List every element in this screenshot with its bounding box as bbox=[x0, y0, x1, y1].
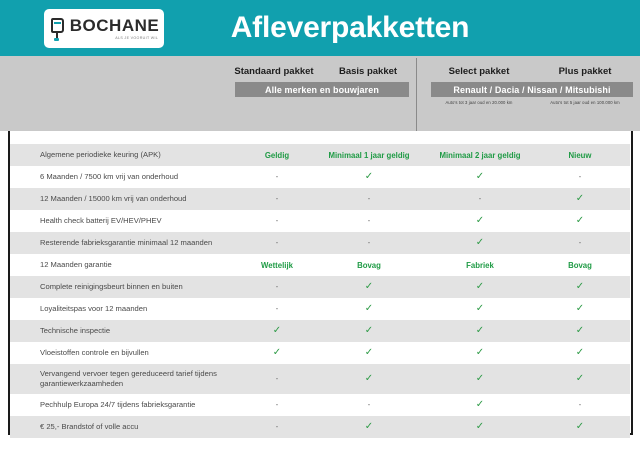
group-bar-all-brands: Alle merken en bouwjaren bbox=[235, 82, 409, 97]
cell-basis: ✓ bbox=[323, 342, 415, 364]
cell-select: - bbox=[430, 188, 530, 210]
row-label: 6 Maanden / 7500 km vrij van onderhoud bbox=[10, 172, 231, 182]
table-row: 12 Maanden / 15000 km vrij van onderhoud… bbox=[10, 188, 630, 210]
dash-icon: - bbox=[368, 239, 371, 247]
cell-plus: ✓ bbox=[530, 416, 630, 438]
cell-select: ✓ bbox=[430, 364, 530, 394]
table-body: Algemene periodieke keuring (APK)GeldigM… bbox=[0, 131, 640, 453]
row-label: Vervangend vervoer tegen gereduceerd tar… bbox=[10, 369, 231, 390]
cell-basis: ✓ bbox=[323, 320, 415, 342]
table-row: 6 Maanden / 7500 km vrij van onderhoud-✓… bbox=[10, 166, 630, 188]
check-icon: ✓ bbox=[365, 348, 373, 358]
cell-select: ✓ bbox=[430, 276, 530, 298]
row-label: € 25,- Brandstof of volle accu bbox=[10, 422, 231, 432]
cell-plus: - bbox=[530, 166, 630, 188]
cell-plus: - bbox=[530, 394, 630, 416]
group-bar-brands-list: Renault / Dacia / Nissan / Mitsubishi bbox=[431, 82, 633, 97]
cell-basis: ✓ bbox=[323, 364, 415, 394]
package-column-headers: Standaard pakket Basis pakket Select pak… bbox=[0, 66, 640, 82]
dash-icon: - bbox=[276, 239, 279, 247]
row-label: Health check batterij EV/HEV/PHEV bbox=[10, 216, 231, 226]
check-icon: ✓ bbox=[365, 172, 373, 182]
check-icon: ✓ bbox=[476, 282, 484, 292]
check-icon: ✓ bbox=[476, 238, 484, 248]
cell-select: ✓ bbox=[430, 320, 530, 342]
cell-standaard: - bbox=[231, 364, 323, 394]
dash-icon: - bbox=[276, 283, 279, 291]
cell-standaard: ✓ bbox=[231, 342, 323, 364]
cell-standaard: - bbox=[231, 394, 323, 416]
check-icon: ✓ bbox=[365, 374, 373, 384]
table-row: Vervangend vervoer tegen gereduceerd tar… bbox=[10, 364, 630, 394]
row-label: Pechhulp Europa 24/7 tijdens fabrieksgar… bbox=[10, 400, 231, 410]
cell-basis: - bbox=[323, 232, 415, 254]
cell-standaard: - bbox=[231, 276, 323, 298]
check-icon: ✓ bbox=[576, 304, 584, 314]
cell-plus: ✓ bbox=[530, 342, 630, 364]
dash-icon: - bbox=[368, 217, 371, 225]
cell-select: ✓ bbox=[430, 298, 530, 320]
cell-standaard: - bbox=[231, 166, 323, 188]
dash-icon: - bbox=[276, 305, 279, 313]
cell-basis: Bovag bbox=[323, 254, 415, 276]
table-row: Complete reinigingsbeurt binnen en buite… bbox=[10, 276, 630, 298]
cell-plus: ✓ bbox=[530, 188, 630, 210]
afleverpakketten-comparison-page: BOCHANE ALS JE VOORUIT WIL Afleverpakket… bbox=[0, 0, 640, 453]
cell-basis: ✓ bbox=[323, 298, 415, 320]
check-icon: ✓ bbox=[273, 326, 281, 336]
cell-select: Fabriek bbox=[430, 254, 530, 276]
cell-plus: ✓ bbox=[530, 364, 630, 394]
dash-icon: - bbox=[368, 195, 371, 203]
cell-select: ✓ bbox=[430, 232, 530, 254]
check-icon: ✓ bbox=[576, 348, 584, 358]
cell-basis: Minimaal 1 jaar geldig bbox=[323, 144, 415, 166]
check-icon: ✓ bbox=[576, 194, 584, 204]
column-note-select: Auto's tot 3 jaar oud en 20.000 km bbox=[428, 100, 530, 105]
check-icon: ✓ bbox=[476, 400, 484, 410]
cell-select: ✓ bbox=[430, 342, 530, 364]
dash-icon: - bbox=[276, 401, 279, 409]
cell-plus: ✓ bbox=[530, 210, 630, 232]
cell-plus: Nieuw bbox=[530, 144, 630, 166]
table-row: Health check batterij EV/HEV/PHEV--✓✓ bbox=[10, 210, 630, 232]
dash-icon: - bbox=[479, 195, 482, 203]
cell-basis: - bbox=[323, 394, 415, 416]
check-icon: ✓ bbox=[576, 326, 584, 336]
row-label: Loyaliteitspas voor 12 maanden bbox=[10, 304, 231, 314]
column-header-plus: Plus pakket bbox=[534, 66, 636, 77]
feature-rows: Algemene periodieke keuring (APK)GeldigM… bbox=[10, 144, 630, 438]
check-icon: ✓ bbox=[576, 282, 584, 292]
row-label: 12 Maanden / 15000 km vrij van onderhoud bbox=[10, 194, 231, 204]
cell-select: ✓ bbox=[430, 210, 530, 232]
cell-plus: ✓ bbox=[530, 298, 630, 320]
table-row: Pechhulp Europa 24/7 tijdens fabrieksgar… bbox=[10, 394, 630, 416]
cell-standaard: Wettelijk bbox=[231, 254, 323, 276]
column-note-plus: Auto's tot 5 jaar oud en 100.000 km bbox=[534, 100, 636, 105]
check-icon: ✓ bbox=[576, 422, 584, 432]
table-row: 12 Maanden garantieWettelijkBovagFabriek… bbox=[10, 254, 630, 276]
dash-icon: - bbox=[579, 401, 582, 409]
table-row: Resterende fabrieksgarantie minimaal 12 … bbox=[10, 232, 630, 254]
table-header-block: Standaard pakket Basis pakket Select pak… bbox=[0, 56, 640, 131]
page-title: Afleverpakketten bbox=[0, 0, 640, 56]
dash-icon: - bbox=[276, 423, 279, 431]
check-icon: ✓ bbox=[365, 282, 373, 292]
cell-basis: ✓ bbox=[323, 166, 415, 188]
check-icon: ✓ bbox=[365, 304, 373, 314]
check-icon: ✓ bbox=[476, 326, 484, 336]
table-row: Algemene periodieke keuring (APK)GeldigM… bbox=[10, 144, 630, 166]
check-icon: ✓ bbox=[476, 422, 484, 432]
cell-plus: Bovag bbox=[530, 254, 630, 276]
cell-select: ✓ bbox=[430, 166, 530, 188]
row-label: Technische inspectie bbox=[10, 326, 231, 336]
check-icon: ✓ bbox=[273, 348, 281, 358]
column-header-select: Select pakket bbox=[428, 66, 530, 77]
cell-standaard: Geldig bbox=[231, 144, 323, 166]
dash-icon: - bbox=[276, 173, 279, 181]
dash-icon: - bbox=[368, 401, 371, 409]
check-icon: ✓ bbox=[476, 374, 484, 384]
cell-standaard: - bbox=[231, 416, 323, 438]
cell-basis: - bbox=[323, 188, 415, 210]
cell-standaard: - bbox=[231, 210, 323, 232]
check-icon: ✓ bbox=[576, 374, 584, 384]
dash-icon: - bbox=[579, 173, 582, 181]
row-label: 12 Maanden garantie bbox=[10, 260, 231, 270]
cell-standaard: - bbox=[231, 232, 323, 254]
cell-standaard: ✓ bbox=[231, 320, 323, 342]
page-banner: BOCHANE ALS JE VOORUIT WIL Afleverpakket… bbox=[0, 0, 640, 56]
column-header-standaard: Standaard pakket bbox=[228, 66, 320, 77]
cell-basis: ✓ bbox=[323, 276, 415, 298]
check-icon: ✓ bbox=[476, 304, 484, 314]
cell-basis: ✓ bbox=[323, 416, 415, 438]
cell-standaard: - bbox=[231, 188, 323, 210]
check-icon: ✓ bbox=[476, 216, 484, 226]
check-icon: ✓ bbox=[365, 326, 373, 336]
row-label: Resterende fabrieksgarantie minimaal 12 … bbox=[10, 238, 231, 248]
table-row: Vloeistoffen controle en bijvullen✓✓✓✓ bbox=[10, 342, 630, 364]
check-icon: ✓ bbox=[365, 422, 373, 432]
cell-select: ✓ bbox=[430, 416, 530, 438]
cell-plus: - bbox=[530, 232, 630, 254]
cell-plus: ✓ bbox=[530, 320, 630, 342]
check-icon: ✓ bbox=[476, 172, 484, 182]
dash-icon: - bbox=[276, 375, 279, 383]
cell-select: ✓ bbox=[430, 394, 530, 416]
row-label: Complete reinigingsbeurt binnen en buite… bbox=[10, 282, 231, 292]
dash-icon: - bbox=[276, 195, 279, 203]
check-icon: ✓ bbox=[576, 216, 584, 226]
dash-icon: - bbox=[579, 239, 582, 247]
cell-standaard: - bbox=[231, 298, 323, 320]
row-label: Algemene periodieke keuring (APK) bbox=[10, 150, 231, 160]
cell-plus: ✓ bbox=[530, 276, 630, 298]
table-row: Loyaliteitspas voor 12 maanden-✓✓✓ bbox=[10, 298, 630, 320]
column-header-basis: Basis pakket bbox=[322, 66, 414, 77]
table-top-spacer bbox=[10, 131, 630, 144]
cell-select: Minimaal 2 jaar geldig bbox=[430, 144, 530, 166]
cell-basis: - bbox=[323, 210, 415, 232]
row-label: Vloeistoffen controle en bijvullen bbox=[10, 348, 231, 358]
dash-icon: - bbox=[276, 217, 279, 225]
check-icon: ✓ bbox=[476, 348, 484, 358]
table-row: Technische inspectie✓✓✓✓ bbox=[10, 320, 630, 342]
table-row: € 25,- Brandstof of volle accu-✓✓✓ bbox=[10, 416, 630, 438]
table-right-border bbox=[631, 131, 633, 434]
